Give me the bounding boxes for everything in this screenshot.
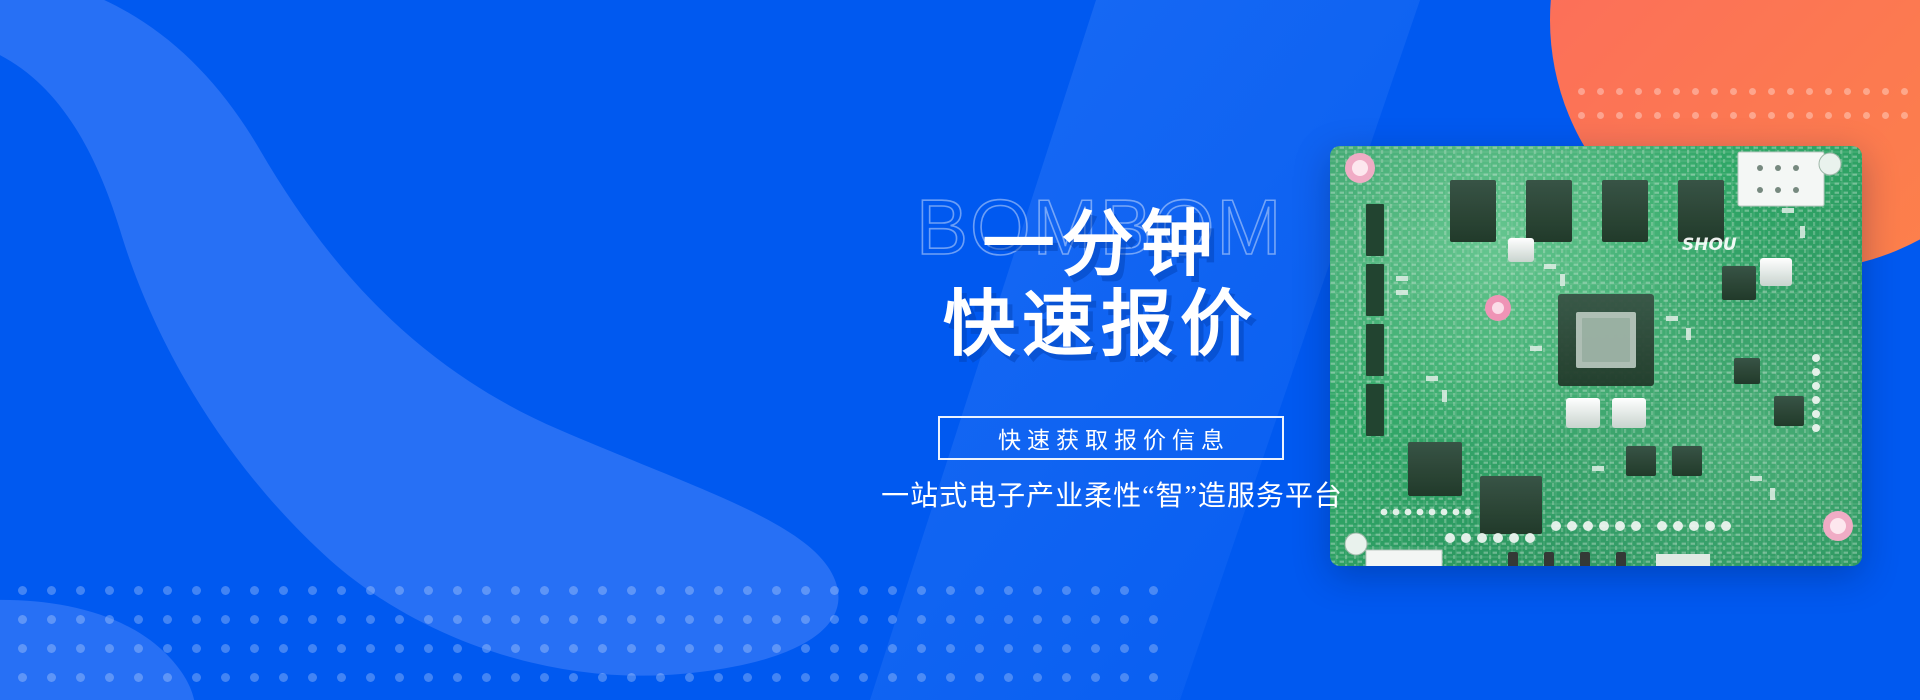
- cta-label: 快速获取报价信息: [992, 421, 1230, 455]
- cta-button[interactable]: 快速获取报价信息: [938, 416, 1284, 460]
- tagline: 一站式电子产业柔性“智”造服务平台: [858, 474, 1366, 514]
- banner-copy: BOMBOM 一分钟 快速报价 快速获取报价信息 一站式电子产业柔性“智”造服务…: [0, 0, 1920, 700]
- headline-line-1: 一分钟: [918, 206, 1284, 282]
- headline-line-2: 快速报价: [918, 286, 1284, 362]
- headline-group: 一分钟 快速报价: [918, 206, 1284, 362]
- promo-banner: SHOU: [0, 0, 1920, 700]
